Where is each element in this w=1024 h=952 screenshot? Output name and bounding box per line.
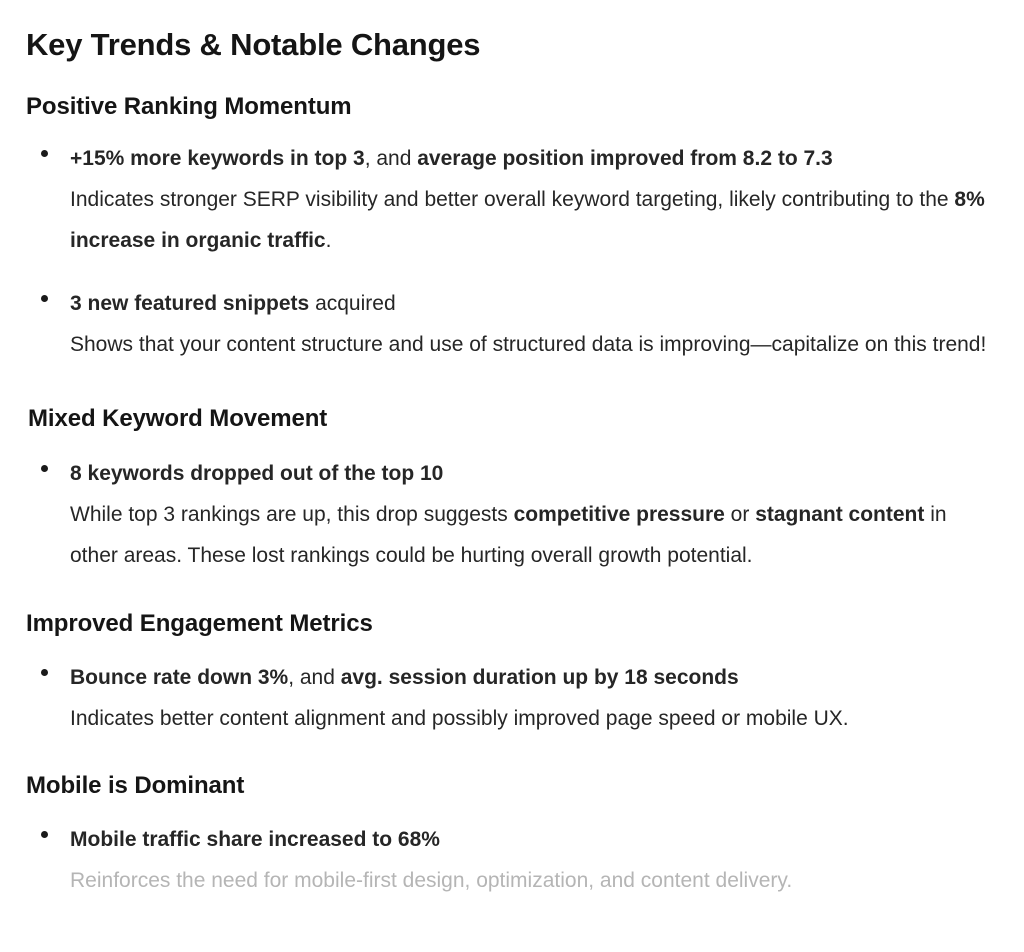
list-item: 8 keywords dropped out of the top 10 Whi… [26, 453, 1000, 576]
list-item-detail: Reinforces the need for mobile-first des… [70, 860, 1000, 901]
detail-bold-part-2: stagnant content [755, 503, 924, 526]
lead-regular-part: , and [365, 147, 418, 170]
section-mixed-keyword-movement: Mixed Keyword Movement 8 keywords droppe… [26, 365, 1000, 575]
detail-regular-part: Reinforces the need for mobile-first des… [70, 869, 792, 892]
list-item-lead: +15% more keywords in top 3, and average… [70, 138, 1000, 179]
bullet-list: +15% more keywords in top 3, and average… [26, 138, 1000, 365]
detail-regular-part: Shows that your content structure and us… [70, 333, 986, 356]
section-heading: Mixed Keyword Movement [26, 365, 1000, 434]
list-item-detail: Indicates stronger SERP visibility and b… [70, 179, 1000, 261]
detail-regular-part-2: or [725, 503, 755, 526]
detail-bold-part: competitive pressure [514, 503, 725, 526]
detail-regular-part-2: . [326, 229, 332, 252]
list-item-lead: Mobile traffic share increased to 68% [70, 819, 1000, 860]
lead-bold-part: +15% more keywords in top 3 [70, 147, 365, 170]
detail-regular-part: Indicates better content alignment and p… [70, 707, 849, 730]
document-page: Key Trends & Notable Changes Positive Ra… [0, 0, 1024, 952]
lead-regular-part: acquired [309, 292, 395, 315]
list-item-lead: 8 keywords dropped out of the top 10 [70, 453, 1000, 494]
lead-bold-part-2: average position improved from 8.2 to 7.… [417, 147, 832, 170]
list-item: 3 new featured snippets acquired Shows t… [26, 283, 1000, 365]
bullet-list: 8 keywords dropped out of the top 10 Whi… [26, 453, 1000, 576]
list-item: +15% more keywords in top 3, and average… [26, 138, 1000, 261]
list-item: Bounce rate down 3%, and avg. session du… [26, 657, 1000, 739]
bullet-dot-icon [41, 831, 48, 838]
list-item-detail: While top 3 rankings are up, this drop s… [70, 494, 1000, 576]
section-heading: Positive Ranking Momentum [26, 63, 1000, 122]
section-heading: Improved Engagement Metrics [26, 576, 1000, 639]
bullet-list: Bounce rate down 3%, and avg. session du… [26, 657, 1000, 739]
section-positive-ranking-momentum: Positive Ranking Momentum +15% more keyw… [26, 63, 1000, 365]
section-improved-engagement-metrics: Improved Engagement Metrics Bounce rate … [26, 576, 1000, 739]
list-item-detail: Indicates better content alignment and p… [70, 698, 1000, 739]
bullet-dot-icon [41, 465, 48, 472]
bullet-dot-icon [41, 150, 48, 157]
section-mobile-is-dominant: Mobile is Dominant Mobile traffic share … [26, 739, 1000, 901]
list-item: Mobile traffic share increased to 68% Re… [26, 819, 1000, 901]
lead-bold-part: Mobile traffic share increased to 68% [70, 828, 440, 851]
list-item-lead: 3 new featured snippets acquired [70, 283, 1000, 324]
lead-bold-part: 3 new featured snippets [70, 292, 309, 315]
lead-bold-part: 8 keywords dropped out of the top 10 [70, 462, 443, 485]
detail-regular-part: While top 3 rankings are up, this drop s… [70, 503, 514, 526]
section-heading: Mobile is Dominant [26, 739, 1000, 801]
bullet-list: Mobile traffic share increased to 68% Re… [26, 819, 1000, 901]
bullet-dot-icon [41, 669, 48, 676]
bullet-dot-icon [41, 295, 48, 302]
lead-bold-part: Bounce rate down 3% [70, 666, 288, 689]
detail-regular-part: Indicates stronger SERP visibility and b… [70, 188, 954, 211]
lead-regular-part: , and [288, 666, 341, 689]
page-title: Key Trends & Notable Changes [26, 0, 1000, 63]
list-item-lead: Bounce rate down 3%, and avg. session du… [70, 657, 1000, 698]
list-item-detail: Shows that your content structure and us… [70, 324, 1000, 365]
lead-bold-part-2: avg. session duration up by 18 seconds [341, 666, 739, 689]
